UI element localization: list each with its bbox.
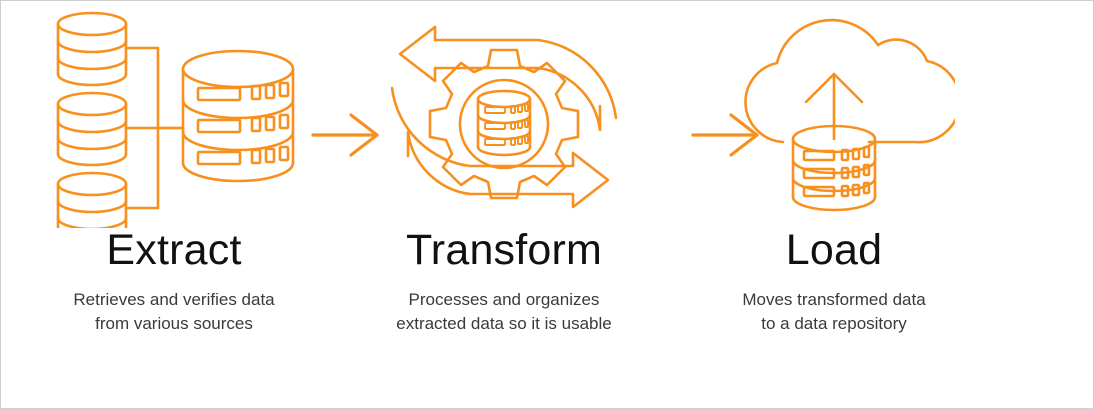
stage-transform: Transform Processes and organizes extrac… — [339, 1, 669, 336]
arrow-right-icon — [307, 109, 387, 161]
transform-icon-slot — [339, 1, 669, 233]
stage-load: Load Moves transformed data to a data re… — [669, 1, 999, 336]
stage-description-extract: Retrieves and verifies data from various… — [73, 288, 274, 336]
stage-title-extract: Extract — [106, 229, 241, 272]
multiple-databases-to-database-icon — [40, 6, 308, 228]
extract-icon-slot — [9, 1, 339, 233]
stage-description-load: Moves transformed data to a data reposit… — [742, 288, 925, 336]
stage-description-transform: Processes and organizes extracted data s… — [396, 288, 611, 336]
stage-extract: Extract Retrieves and verifies data from… — [9, 1, 339, 336]
gear-database-cycle-arrows-icon — [388, 8, 620, 226]
stage-title-load: Load — [786, 229, 882, 272]
arrow-right-icon — [687, 109, 767, 161]
stage-list: Extract Retrieves and verifies data from… — [1, 1, 1093, 408]
stage-title-transform: Transform — [406, 229, 602, 272]
etl-diagram-canvas: Extract Retrieves and verifies data from… — [0, 0, 1094, 409]
connector-transform-to-load — [687, 109, 767, 166]
connector-extract-to-transform — [307, 109, 387, 166]
